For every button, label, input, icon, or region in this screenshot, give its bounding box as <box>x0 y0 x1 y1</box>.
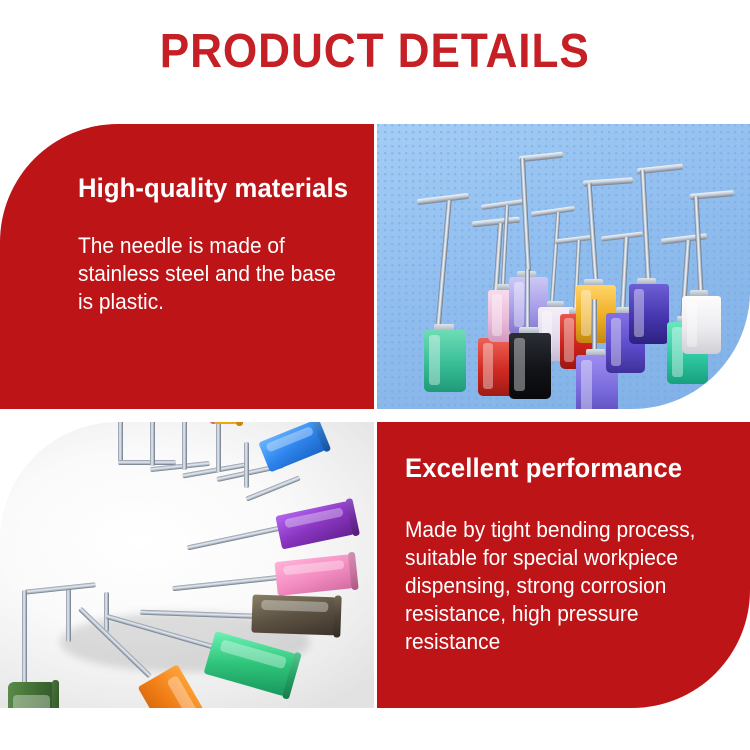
panel-text-block: High-quality materials The needle is mad… <box>0 124 374 409</box>
page-title: PRODUCT DETAILS <box>0 24 750 80</box>
needle-tip <box>18 590 188 708</box>
panel-body-excellent-performance: Made by tight bending process, suitable … <box>405 516 700 656</box>
panel-text-block: Excellent performance Made by tight bend… <box>377 422 750 708</box>
page-title-text: PRODUCT DETAILS <box>160 24 590 80</box>
panel-heading-excellent-performance: Excellent performance <box>405 452 700 484</box>
panel-body-high-quality-materials: The needle is made of stainless steel an… <box>78 232 336 316</box>
panel-photo-needle-tips-fan-white <box>0 422 374 708</box>
product-details-infographic: PRODUCT DETAILS High-quality materials T… <box>0 0 750 750</box>
needle-tip <box>682 192 740 362</box>
panel-board: High-quality materials The needle is mad… <box>0 124 750 708</box>
panel-heading-high-quality-materials: High-quality materials <box>78 172 336 204</box>
needle-tip <box>415 196 475 391</box>
photo-needle-tips-fan-white <box>0 422 374 708</box>
needle-tip <box>240 434 360 484</box>
photo-needle-tips-blue-mat <box>377 124 750 409</box>
needle-tip <box>501 269 559 409</box>
panel-excellent-performance: Excellent performance Made by tight bend… <box>377 422 750 708</box>
panel-photo-needle-tips-blue-mat <box>377 124 750 409</box>
panel-high-quality-materials: High-quality materials The needle is mad… <box>0 124 374 409</box>
